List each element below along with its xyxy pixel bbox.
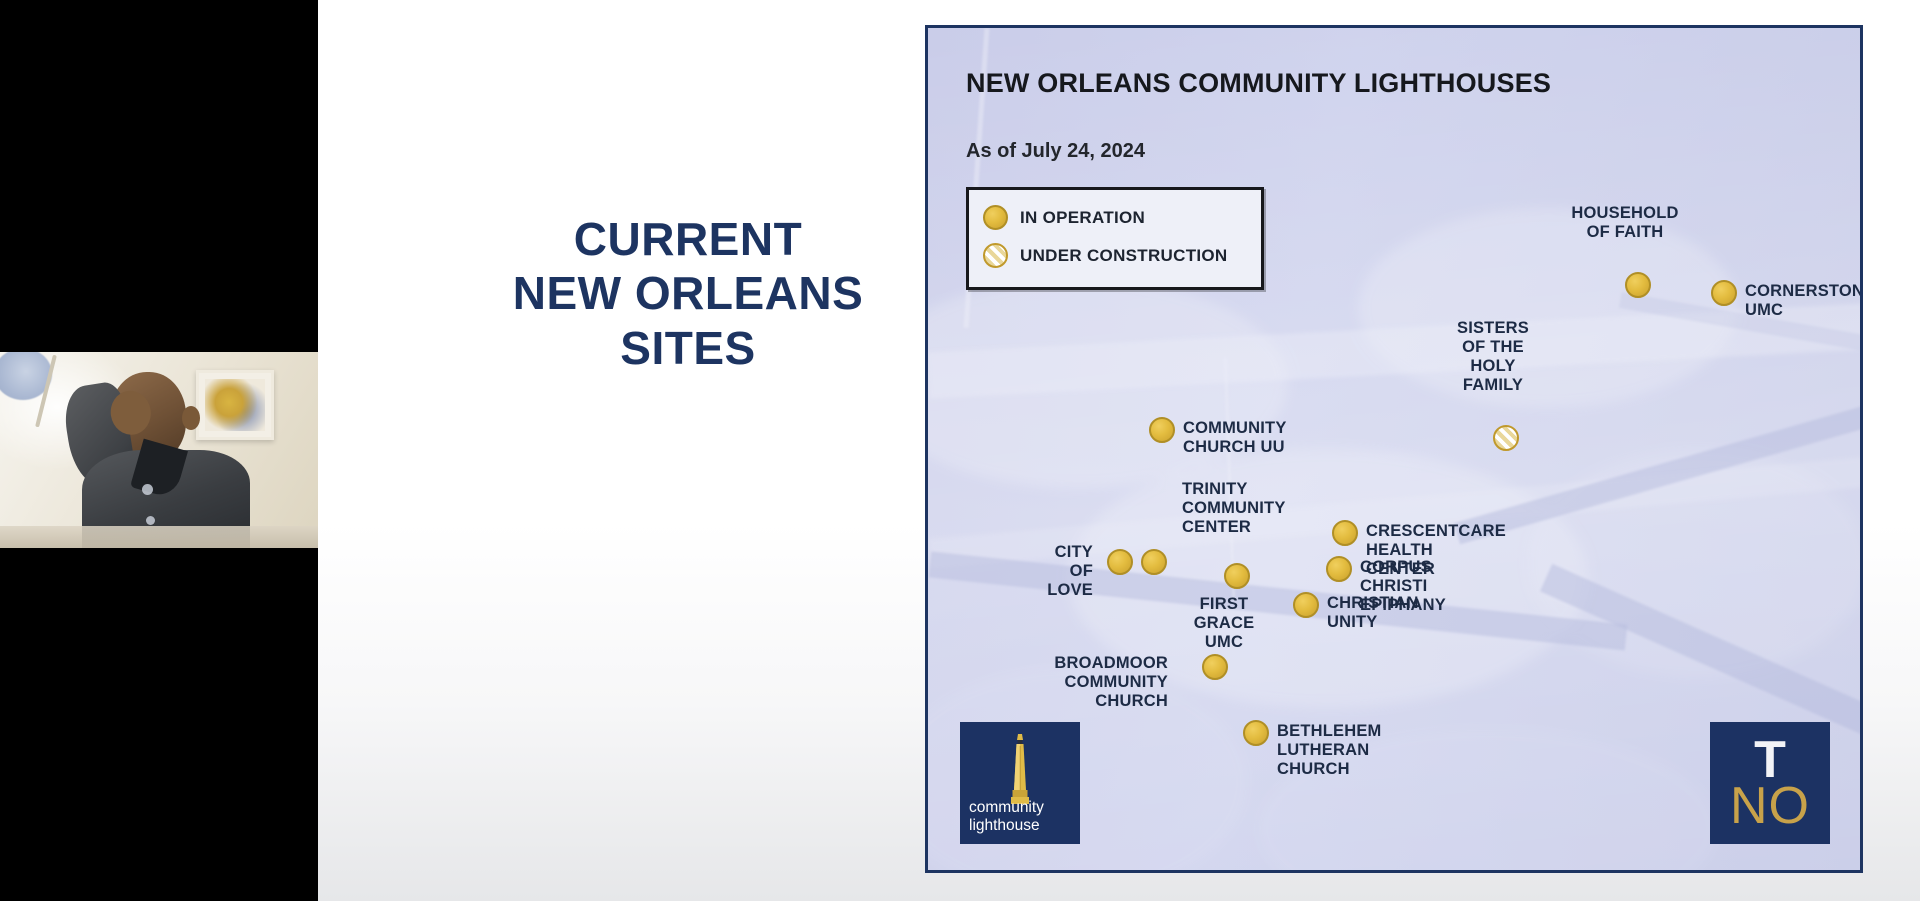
logo-line-1: community [969, 799, 1080, 816]
participant-figure [58, 366, 248, 548]
operational-marker-icon [1293, 592, 1319, 618]
site-label: CORNERSTONE UMC [1745, 282, 1863, 320]
participant-button [146, 516, 155, 525]
operational-marker-icon [983, 205, 1008, 230]
site-label: TRINITY COMMUNITY CENTER [1182, 480, 1286, 537]
map-subheading: As of July 24, 2024 [966, 140, 1145, 163]
map-heading: NEW ORLEANS COMMUNITY LIGHTHOUSES [966, 68, 1830, 99]
operational-marker-icon [1326, 556, 1352, 582]
participant-ear [182, 406, 200, 430]
presentation-slide: CURRENT NEW ORLEANS SITES [318, 0, 1920, 901]
operational-marker-icon [1711, 280, 1737, 306]
site-label: COMMUNITY CHURCH UU [1183, 419, 1287, 457]
operational-marker-icon [1149, 417, 1175, 443]
site-label: BETHLEHEM LUTHERAN CHURCH [1277, 722, 1381, 779]
operational-marker-icon [1141, 549, 1167, 575]
tno-logo-no: NO [1730, 780, 1810, 832]
site-label: FIRST GRACE UMC [1194, 595, 1255, 652]
legend-label: UNDER CONSTRUCTION [1020, 246, 1228, 266]
legend-item-in-operation: IN OPERATION [983, 205, 1145, 230]
screen: CURRENT NEW ORLEANS SITES [0, 0, 1920, 901]
operational-marker-icon [1332, 520, 1358, 546]
site-label: HOUSEHOLD OF FAITH [1571, 204, 1678, 242]
community-lighthouse-wordmark: community lighthouse [960, 799, 1080, 834]
title-line-2: NEW ORLEANS [418, 266, 958, 320]
site-label: CHRISTIAN UNITY [1327, 594, 1419, 632]
legend-item-under-construction: UNDER CONSTRUCTION [983, 243, 1228, 268]
site-label: SISTERS OF THE HOLY FAMILY [1457, 319, 1529, 396]
title-line-1: CURRENT [418, 212, 958, 266]
construction-marker-icon [983, 243, 1008, 268]
site-label: CITY OF LOVE [1047, 543, 1093, 600]
title-line-3: SITES [418, 321, 958, 375]
operational-marker-icon [1625, 272, 1651, 298]
map-panel: NEW ORLEANS COMMUNITY LIGHTHOUSES As of … [925, 25, 1863, 873]
tno-logo: T NO [1710, 722, 1830, 844]
map-legend: IN OPERATION UNDER CONSTRUCTION [966, 187, 1264, 290]
slide-title: CURRENT NEW ORLEANS SITES [418, 212, 958, 375]
construction-marker-icon [1493, 425, 1519, 451]
webcam-desk [0, 526, 318, 548]
operational-marker-icon [1243, 720, 1269, 746]
participant-video-tile[interactable] [0, 352, 318, 548]
operational-marker-icon [1107, 549, 1133, 575]
logo-line-2: lighthouse [969, 817, 1080, 834]
lighthouse-icon [1007, 732, 1033, 806]
video-rail [0, 0, 318, 901]
site-label: BROADMOOR COMMUNITY CHURCH [1054, 654, 1168, 711]
operational-marker-icon [1202, 654, 1228, 680]
participant-button [142, 484, 153, 495]
legend-label: IN OPERATION [1020, 208, 1145, 228]
community-lighthouse-logo: community lighthouse [960, 722, 1080, 844]
operational-marker-icon [1224, 563, 1250, 589]
